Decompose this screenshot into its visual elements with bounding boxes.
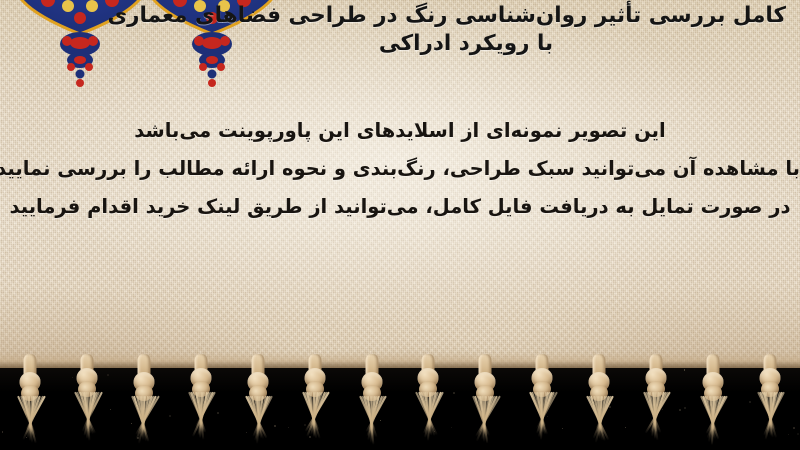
body-line-2: با مشاهده آن می‌توانید سبک طراحی، رنگ‌بن…: [0, 150, 800, 188]
tassel-skirt: [582, 396, 616, 448]
tassel-skirt: [355, 396, 389, 448]
tassel-skirt: [241, 396, 275, 448]
knotted-tassel-fringe: [0, 354, 800, 450]
body-line-3: در صورت تمایل به دریافت فایل کامل، می‌تو…: [0, 188, 800, 226]
tassel-skirt: [184, 392, 218, 444]
slide-canvas: کامل بررسی تأثیر روان‌شناسی رنگ در طراحی…: [0, 0, 800, 450]
body-line-1: این تصویر نمونه‌ای از اسلایدهای این پاور…: [0, 112, 800, 150]
tassel: [2, 354, 59, 450]
tassel-skirt: [13, 396, 47, 448]
tassel: [457, 354, 514, 450]
tassel-skirt: [525, 392, 559, 444]
tassel-skirt: [753, 392, 787, 444]
tassel: [59, 354, 116, 450]
tassel-skirt: [696, 396, 730, 448]
slide-body-text: این تصویر نمونه‌ای از اسلایدهای این پاور…: [0, 112, 800, 226]
slide-title: کامل بررسی تأثیر روان‌شناسی رنگ در طراحی…: [146, 2, 786, 59]
tassel: [229, 354, 286, 450]
tassel: [173, 354, 230, 450]
tassel: [571, 354, 628, 450]
tassel: [343, 354, 400, 450]
tassel: [514, 354, 571, 450]
tassel: [684, 354, 741, 450]
tassel: [627, 354, 684, 450]
slide-title-line-2: با رویکرد ادراکی: [146, 30, 786, 58]
tassel: [116, 354, 173, 450]
tassel-skirt: [127, 396, 161, 448]
tassel-skirt: [468, 396, 502, 448]
tassel-skirt: [298, 392, 332, 444]
tassel-skirt: [639, 392, 673, 444]
tassel: [741, 354, 798, 450]
tassel-skirt: [411, 392, 445, 444]
tassel-skirt: [70, 392, 104, 444]
slide-title-line-1: کامل بررسی تأثیر روان‌شناسی رنگ در طراحی…: [146, 2, 786, 30]
tassel: [400, 354, 457, 450]
tassel: [286, 354, 343, 450]
